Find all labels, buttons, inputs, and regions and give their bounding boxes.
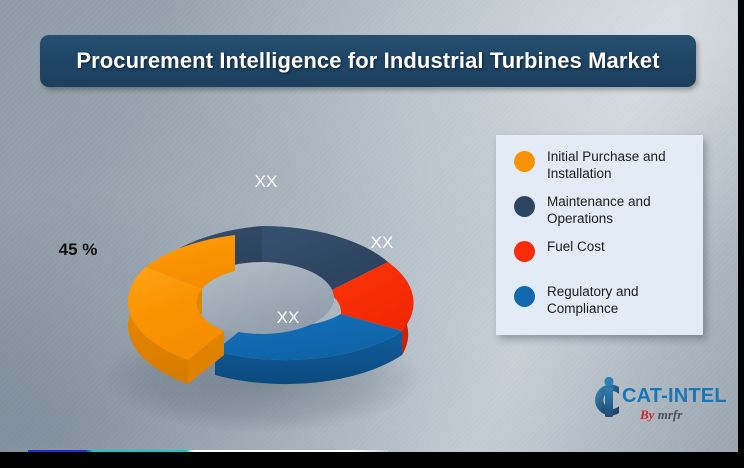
- donut-chart-svg: XX XX XX 45 %: [10, 115, 490, 445]
- legend-item-initial-purchase[interactable]: Initial Purchase and Installation: [514, 149, 695, 183]
- brand-logo: CAT-INTEL By mrfr: [586, 376, 718, 430]
- slice-label-maintenance: XX: [255, 172, 278, 191]
- legend-item-regulatory[interactable]: Regulatory and Compliance: [514, 284, 695, 318]
- slice-label-regulatory: XX: [277, 308, 300, 327]
- slice-label-fuel-cost: XX: [371, 233, 394, 252]
- legend-label-regulatory: Regulatory and Compliance: [547, 284, 639, 317]
- legend-swatch-navy-icon: [514, 196, 535, 217]
- legend-item-fuel-cost[interactable]: Fuel Cost: [514, 239, 695, 273]
- slice-label-initial-purchase: 45 %: [59, 240, 98, 259]
- legend-label-fuel-cost: Fuel Cost: [547, 239, 605, 256]
- logo-tagline: By mrfr: [640, 407, 682, 423]
- page-title: Procurement Intelligence for Industrial …: [76, 48, 659, 74]
- donut-chart: XX XX XX 45 %: [10, 115, 490, 445]
- chart-legend: Initial Purchase and Installation Mainte…: [496, 135, 703, 335]
- legend-swatch-red-icon: [514, 241, 535, 262]
- legend-swatch-orange-icon: [514, 151, 535, 172]
- legend-list: Initial Purchase and Installation Mainte…: [514, 149, 695, 329]
- logo-tagline-by: By: [640, 407, 654, 422]
- frame-border-bottom: [0, 452, 744, 468]
- legend-swatch-blue-icon: [514, 286, 535, 307]
- legend-label-maintenance: Maintenance and Operations: [547, 194, 651, 227]
- title-banner: Procurement Intelligence for Industrial …: [40, 35, 696, 87]
- slide-canvas: Procurement Intelligence for Industrial …: [0, 0, 744, 468]
- slide-stage: Procurement Intelligence for Industrial …: [0, 0, 738, 452]
- frame-border-right: [738, 0, 744, 468]
- legend-label-initial-purchase: Initial Purchase and Installation: [547, 149, 666, 182]
- logo-wordmark: CAT-INTEL: [622, 385, 727, 408]
- logo-tagline-brand: mrfr: [658, 407, 683, 422]
- legend-item-maintenance[interactable]: Maintenance and Operations: [514, 194, 695, 228]
